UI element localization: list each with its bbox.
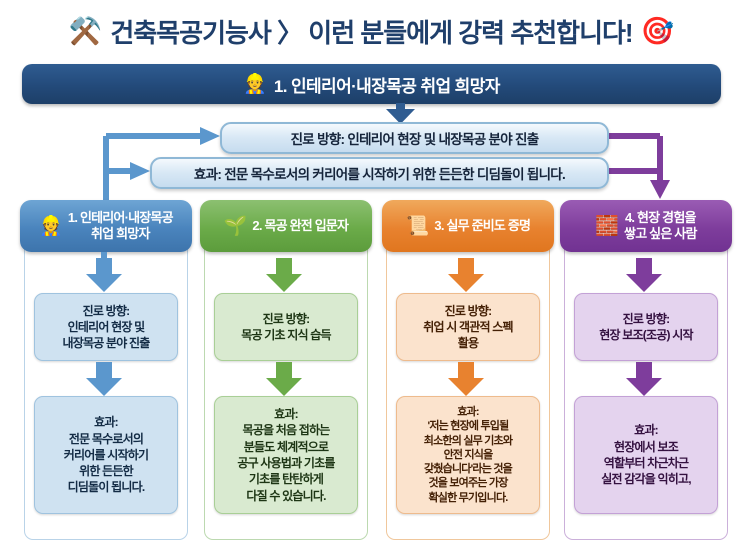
right-purple-connector: [605, 136, 660, 182]
column-panel-4: 🧱 4. 현장 경험을 쌓고 싶은 사람 진로 방향: 현장 보조(조공) 시작…: [560, 200, 732, 544]
left-arrow-to-effect-pill: [130, 162, 150, 180]
left-arrow-to-path-pill: [200, 127, 220, 145]
dart-target-icon: 🎯: [641, 18, 675, 45]
page-title-text: 건축목공기능사 〉 이런 분들에게 강력 추천합니다!: [110, 13, 632, 50]
column-arrows-4: [560, 200, 732, 544]
column-panel-2: 🌱 2. 목공 완전 입문자 진로 방향: 목공 기초 지식 습득 효과: 목공…: [200, 200, 372, 544]
shared-path-pill-text: 진로 방향: 인테리어 현장 및 내장목공 분야 진출: [291, 128, 539, 148]
infographic-canvas: ⚒️ 건축목공기능사 〉 이런 분들에게 강력 추천합니다! 🎯 👷 1. 인테…: [0, 0, 743, 555]
column-panel-1: 👷 1. 인테리어·내장목공 취업 희망자 진로 방향: 인테리어 현장 및 내…: [20, 200, 192, 544]
shared-effect-pill: 효과: 전문 목수로서의 커리어를 시작하기 위한 든든한 디딤돌이 됩니다.: [150, 157, 609, 189]
hammer-wrench-icon: ⚒️: [69, 18, 103, 45]
column-arrows-3: [382, 200, 554, 544]
column-panel-3: 📜 3. 실무 준비도 증명 진로 방향: 취업 시 객관적 스펙 활용 효과:…: [382, 200, 554, 544]
construction-worker-icon: 👷: [243, 75, 267, 94]
page-title: ⚒️ 건축목공기능사 〉 이런 분들에게 강력 추천합니다! 🎯: [0, 8, 743, 54]
top-banner: 👷 1. 인테리어·내장목공 취업 희망자: [22, 64, 721, 104]
right-arrow-to-column4: [650, 180, 670, 199]
shared-path-pill: 진로 방향: 인테리어 현장 및 내장목공 분야 진출: [220, 122, 609, 154]
shared-effect-pill-text: 효과: 전문 목수로서의 커리어를 시작하기 위한 든든한 디딤돌이 됩니다.: [194, 163, 565, 183]
column-arrows-1: [20, 200, 192, 544]
top-banner-label: 1. 인테리어·내장목공 취업 희망자: [274, 72, 500, 97]
column-arrows-2: [200, 200, 372, 544]
banner-down-arrow: [386, 103, 415, 124]
